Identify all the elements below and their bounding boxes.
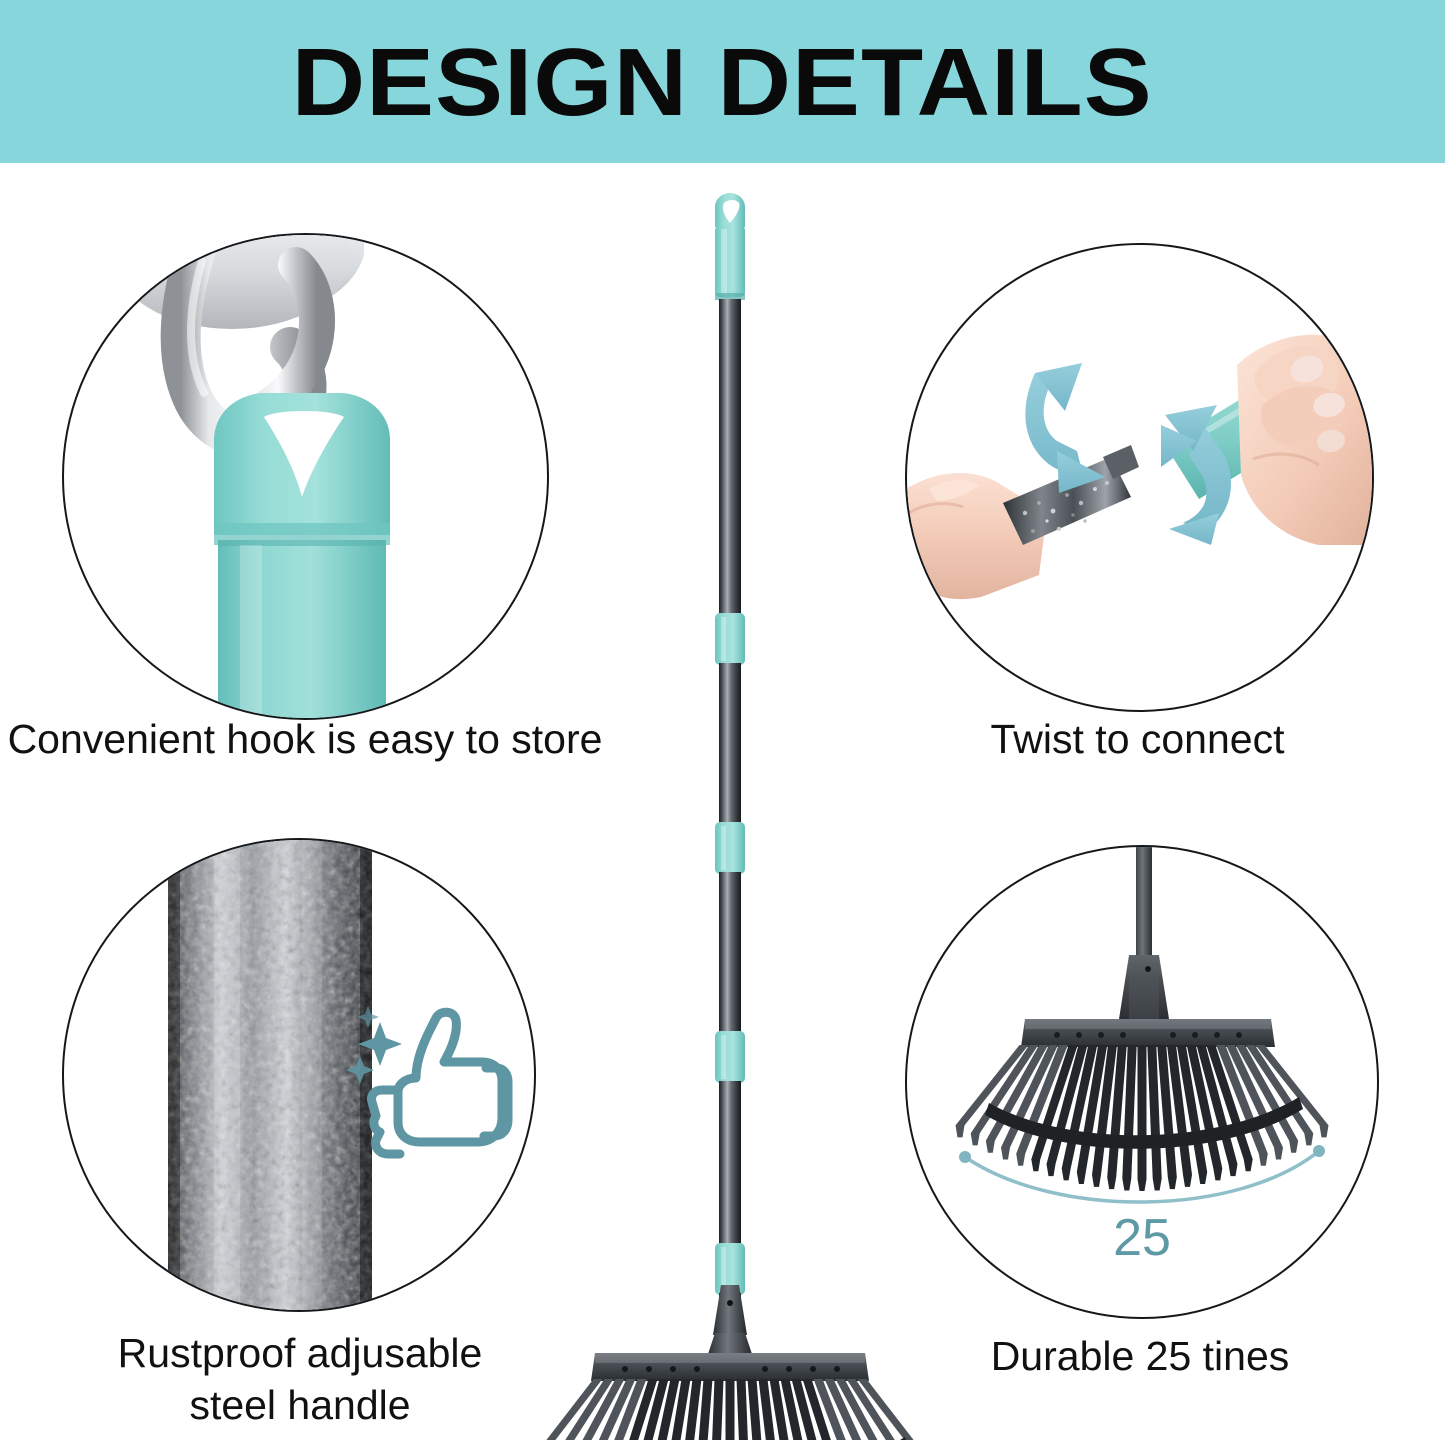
thumbs-up-icon: [371, 1012, 508, 1154]
design-details-infographic: DESIGN DETAILS: [0, 0, 1445, 1445]
pole-collar-3: [715, 1031, 745, 1083]
hook-detail-illustration: [64, 235, 547, 718]
full-rake-illustration: [525, 185, 925, 1440]
pole-segment-3: [719, 872, 741, 1037]
caption-twist: Twist to connect: [905, 713, 1370, 765]
hook-detail-circle: [62, 233, 549, 720]
header-banner: DESIGN DETAILS: [0, 0, 1445, 163]
caption-hook: Convenient hook is easy to store: [0, 713, 610, 765]
pole-segment-4: [719, 1081, 741, 1249]
page-title: DESIGN DETAILS: [292, 35, 1153, 131]
pole-segment-2: [719, 663, 741, 828]
rake-shaft-icon: [1136, 847, 1152, 955]
pole-collar-2: [715, 822, 745, 874]
tines-illustration: 25: [907, 847, 1377, 1317]
caption-tines: Durable 25 tines: [905, 1330, 1375, 1382]
tines-circle: 25: [905, 845, 1379, 1319]
twist-connect-illustration: [907, 245, 1372, 710]
caption-steel: Rustproof adjusable steel handle: [30, 1327, 570, 1432]
handle-grip-top-icon: [715, 193, 745, 300]
twist-connect-circle: [905, 243, 1374, 712]
steel-handle-circle: [62, 838, 536, 1312]
pole-segment-1: [719, 299, 741, 619]
center-rake-tines-group: [531, 1379, 926, 1440]
steel-handle-illustration: [64, 840, 534, 1310]
curved-arrow-down-icon: [1025, 363, 1105, 493]
rake-tine: [1138, 1045, 1147, 1191]
hand-right-icon: [1237, 335, 1372, 545]
rake-tine: [726, 1379, 735, 1440]
rake-neck-icon: [707, 1285, 753, 1357]
pole-collar-1: [715, 613, 745, 665]
hammered-steel-pole-icon: [168, 840, 372, 1310]
center-product-rake: [525, 185, 925, 1440]
measure-label: 25: [1113, 1209, 1171, 1267]
